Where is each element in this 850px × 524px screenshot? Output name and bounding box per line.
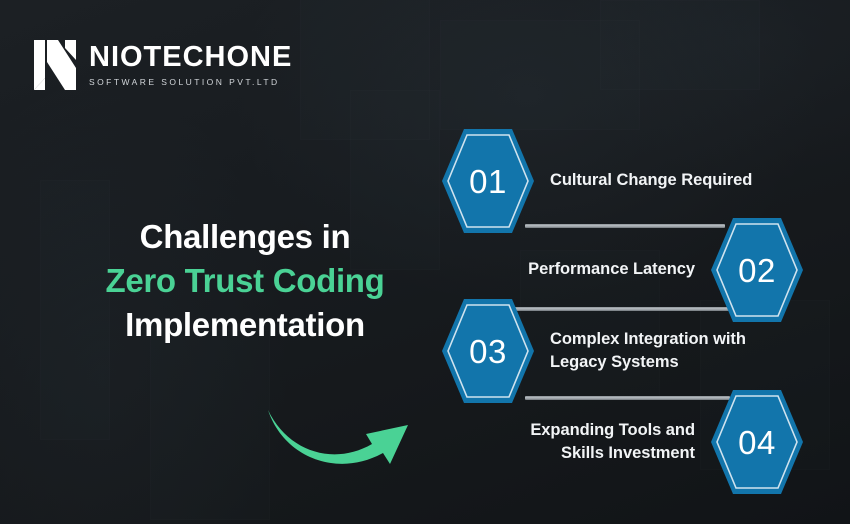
step-label-01: Cultural Change Required	[550, 169, 752, 192]
step-label-03: Complex Integration with Legacy Systems	[550, 328, 785, 375]
hexagon-badge-01: 01	[440, 127, 536, 235]
hexagon-badge-04: 04	[709, 388, 805, 496]
steps-list: 01 Cultural Change Required 02 Performan…	[0, 0, 850, 524]
step-number-03: 03	[469, 335, 507, 368]
step-item-04[interactable]: 04 Expanding Tools and Skills Investment	[500, 388, 805, 496]
step-number-01: 01	[469, 165, 507, 198]
step-label-02: Performance Latency	[528, 258, 695, 281]
step-label-04: Expanding Tools and Skills Investment	[500, 419, 695, 466]
step-number-02: 02	[738, 254, 776, 287]
step-number-04: 04	[738, 426, 776, 459]
infographic-canvas: NIOTECHONE SOFTWARE SOLUTION PVT.LTD Cha…	[0, 0, 850, 524]
